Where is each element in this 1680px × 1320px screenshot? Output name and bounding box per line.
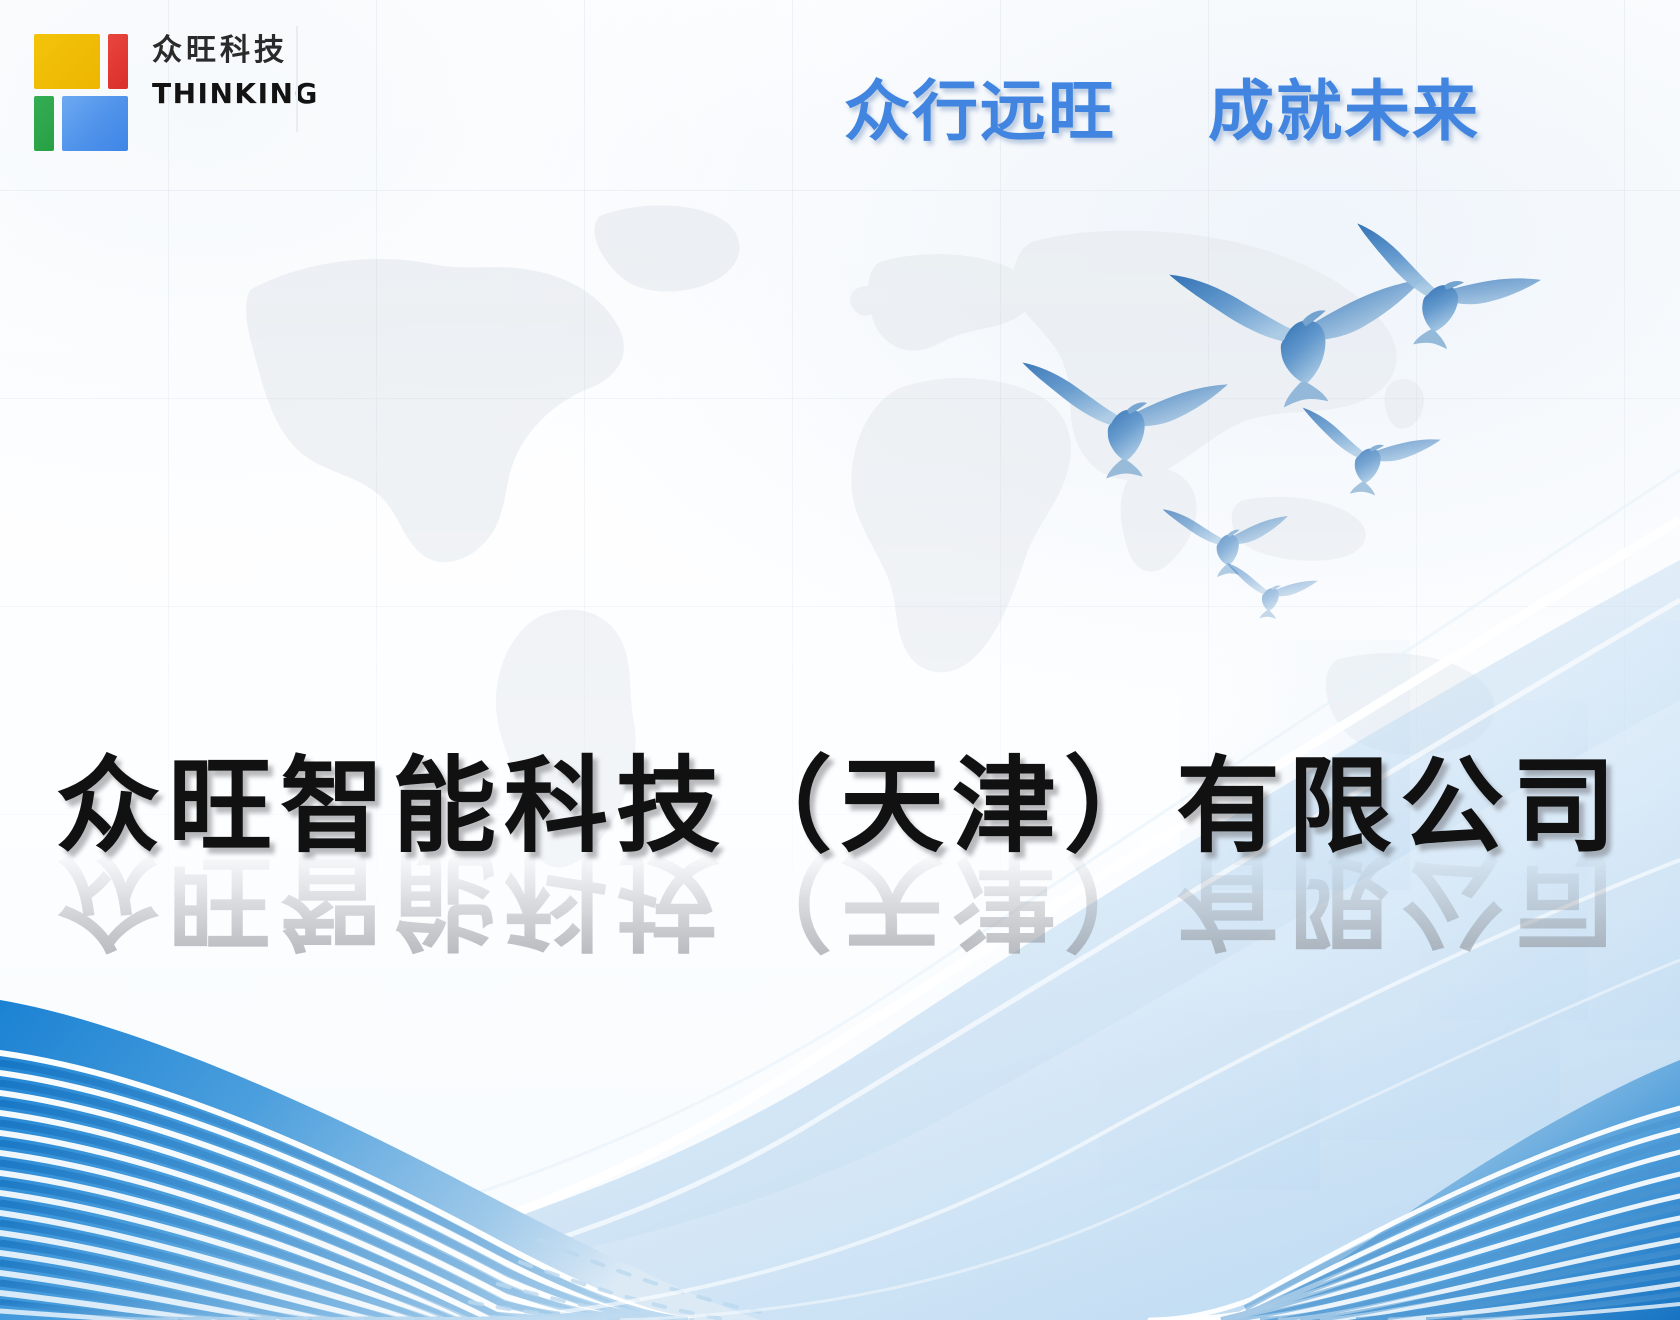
seagull-4	[1297, 408, 1442, 500]
presentation-slide: 众旺科技 THINKING 众行远旺 成就未来 众旺智能科技（天津）有限公司 众…	[0, 0, 1680, 1320]
page-subtitle: 工业智能装备科技创新企业	[0, 1312, 1680, 1320]
seagull-6	[1225, 563, 1319, 620]
logo-red-block	[108, 34, 128, 89]
logo-english-name: THINKING	[152, 80, 312, 108]
seagull-3	[1022, 352, 1232, 483]
header-divider	[296, 26, 298, 132]
slogan-part-right: 成就未来	[1208, 73, 1480, 150]
logo-yellow-block	[34, 34, 100, 89]
seagull-5	[1163, 496, 1294, 582]
logo-chinese-name: 众旺科技	[152, 36, 312, 66]
seagull-flock	[0, 0, 1680, 1320]
logo-blue-block	[62, 96, 128, 151]
company-logo[interactable]: 众旺科技 THINKING	[30, 30, 290, 155]
header-slogan: 众行远旺 成就未来	[844, 58, 1480, 154]
title-block: 众旺智能科技（天津）有限公司 众旺智能科技（天津）有限公司	[0, 750, 1680, 980]
seagull-2	[1342, 223, 1546, 360]
slogan-part-left: 众行远旺	[844, 73, 1116, 150]
page-title-reflection: 众旺智能科技（天津）有限公司	[0, 844, 1680, 956]
logo-wordmark: 众旺科技 THINKING	[152, 36, 312, 108]
slide-header: 众旺科技 THINKING 众行远旺 成就未来	[0, 0, 1680, 190]
logo-green-block	[34, 96, 54, 151]
logo-mark-icon	[30, 30, 142, 148]
